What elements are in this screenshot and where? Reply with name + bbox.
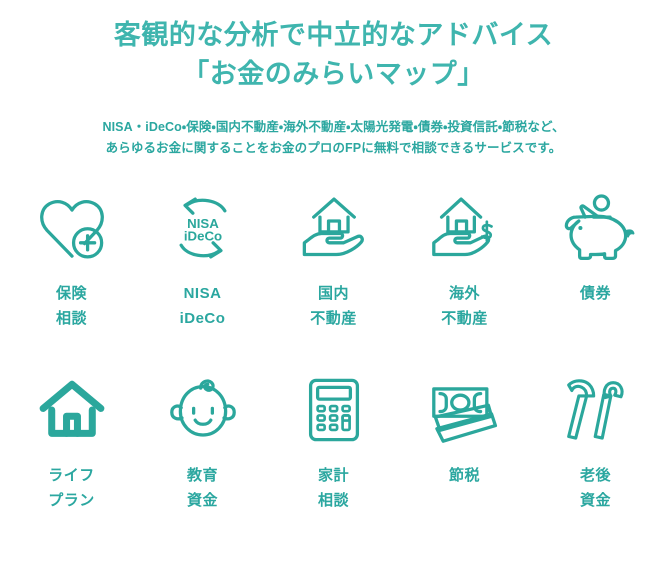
service-label-line-2: 不動産 <box>310 306 357 331</box>
service-item-household-budget[interactable]: 家計 相談 <box>268 371 399 513</box>
service-label-line-1: 家計 <box>318 463 349 488</box>
service-label-line-1: 保険 <box>56 281 87 306</box>
piggy-bank-icon <box>557 189 635 267</box>
service-label-line-1: 教育 <box>187 463 218 488</box>
service-label-line-1: 債券 <box>580 281 611 306</box>
service-label-line-2: 相談 <box>318 488 349 513</box>
service-label: 節税 <box>449 463 480 488</box>
nisa-ideco-recycle-icon: NISA iDeCo <box>164 189 242 267</box>
service-label: 保険 相談 <box>56 281 87 331</box>
service-item-retirement-funds[interactable]: 老後 資金 <box>530 371 661 513</box>
service-label-line-1: NISA <box>180 281 226 306</box>
service-label-line-2: 資金 <box>187 488 218 513</box>
banknotes-icon <box>426 371 504 449</box>
page-title-line-1: 客観的な分析で中立的なアドバイス <box>0 16 667 55</box>
service-label-line-2: 資金 <box>580 488 611 513</box>
service-label-line-1: 海外 <box>441 281 488 306</box>
service-label: 債券 <box>580 281 611 306</box>
walking-canes-icon <box>557 371 635 449</box>
service-label-line-1: 国内 <box>310 281 357 306</box>
service-label-line-1: 節税 <box>449 463 480 488</box>
service-item-education-funds[interactable]: 教育 資金 <box>137 371 268 513</box>
service-label-line-1: 老後 <box>580 463 611 488</box>
service-item-insurance[interactable]: 保険 相談 <box>6 189 137 331</box>
calculator-icon <box>295 371 373 449</box>
service-label: NISA iDeCo <box>180 281 226 331</box>
page-header: 客観的な分析で中立的なアドバイス 「お金のみらいマップ」 NISA・iDeCo・… <box>0 0 667 159</box>
service-label: 国内 不動産 <box>310 281 357 331</box>
service-label: 海外 不動産 <box>441 281 488 331</box>
service-item-nisa-ideco[interactable]: NISA iDeCo NISA iDeCo <box>137 189 268 331</box>
service-label: 家計 相談 <box>318 463 349 513</box>
page-title-line-2: 「お金のみらいマップ」 <box>0 55 667 94</box>
house-in-hand-dollar-icon <box>426 189 504 267</box>
heart-plus-icon <box>33 189 111 267</box>
service-label-line-2: 不動産 <box>441 306 488 331</box>
service-item-life-plan[interactable]: ライフ プラン <box>6 371 137 513</box>
page-subtitle-line-1: NISA・iDeCo・保険・国内不動産・海外不動産・太陽光発電・債券・投資信託・… <box>0 117 667 138</box>
page-title: 客観的な分析で中立的なアドバイス 「お金のみらいマップ」 <box>0 16 667 94</box>
baby-face-icon <box>164 371 242 449</box>
page-subtitle: NISA・iDeCo・保険・国内不動産・海外不動産・太陽光発電・債券・投資信託・… <box>0 117 667 159</box>
service-item-bonds[interactable]: 債券 <box>530 189 661 331</box>
service-label-line-2: iDeCo <box>180 306 226 331</box>
home-solid-icon <box>33 371 111 449</box>
service-label: ライフ プラン <box>48 463 95 513</box>
ideco-icon-text: iDeCo <box>183 228 221 243</box>
service-icon-grid: 保険 相談 NISA iDeCo NISA iDeCo <box>0 189 667 513</box>
service-label: 教育 資金 <box>187 463 218 513</box>
service-label-line-1: ライフ <box>48 463 95 488</box>
service-item-overseas-real-estate[interactable]: 海外 不動産 <box>399 189 530 331</box>
service-item-domestic-real-estate[interactable]: 国内 不動産 <box>268 189 399 331</box>
service-overview-page: 客観的な分析で中立的なアドバイス 「お金のみらいマップ」 NISA・iDeCo・… <box>0 0 667 561</box>
service-label-line-2: プラン <box>48 488 95 513</box>
service-label-line-2: 相談 <box>56 306 87 331</box>
service-item-tax-saving[interactable]: 節税 <box>399 371 530 513</box>
service-label: 老後 資金 <box>580 463 611 513</box>
house-in-hand-icon <box>295 189 373 267</box>
page-subtitle-line-2: あらゆるお金に関することをお金のプロのFPに無料で相談できるサービスです。 <box>0 138 667 159</box>
